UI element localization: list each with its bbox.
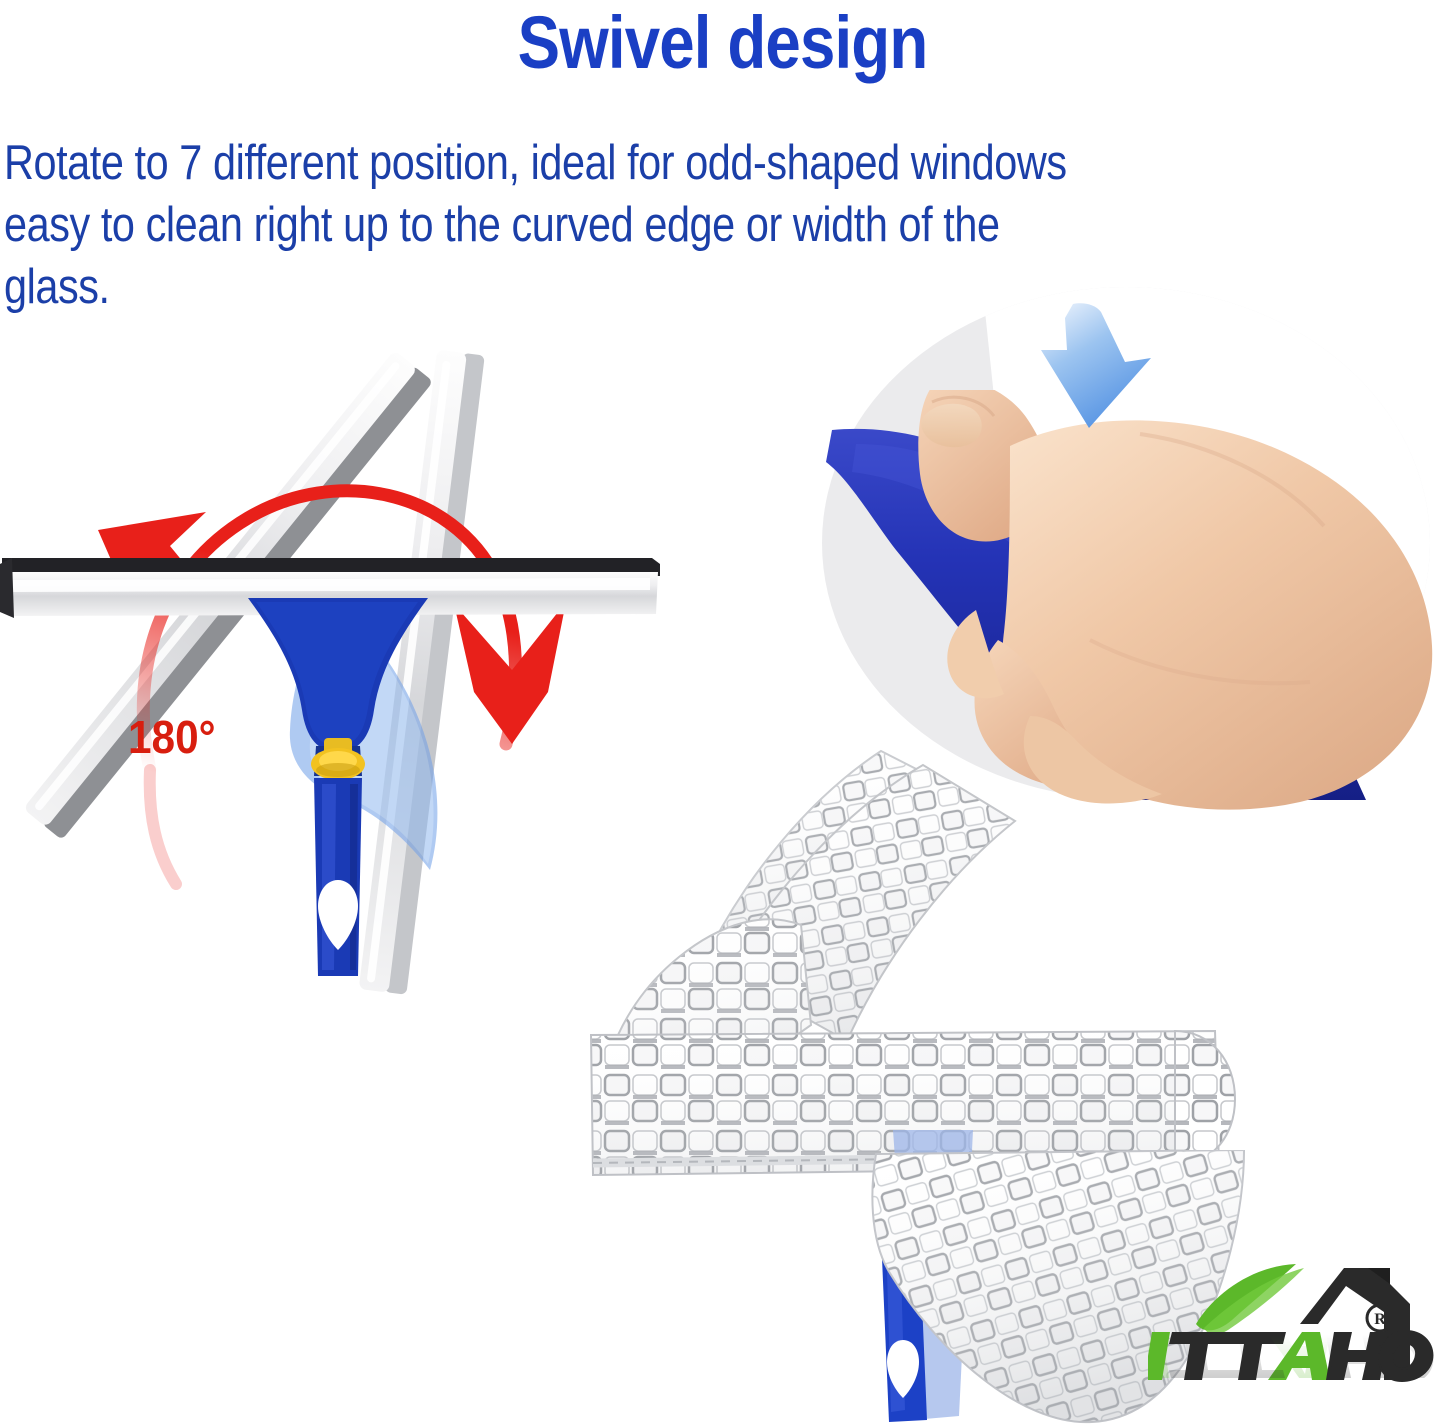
press-direction-arrow-icon: [1027, 302, 1155, 434]
logo-reflection: [1148, 1330, 1445, 1378]
svg-text:R: R: [1374, 1311, 1386, 1328]
description-line-2: easy to clean right up to the curved edg…: [4, 194, 1228, 256]
description-line-1: Rotate to 7 different position, ideal fo…: [4, 132, 1228, 194]
page-title: Swivel design: [101, 2, 1344, 84]
product-feature-image: Swivel design Rotate to 7 different posi…: [0, 0, 1445, 1425]
rotation-degree-label: 180°: [128, 710, 216, 764]
